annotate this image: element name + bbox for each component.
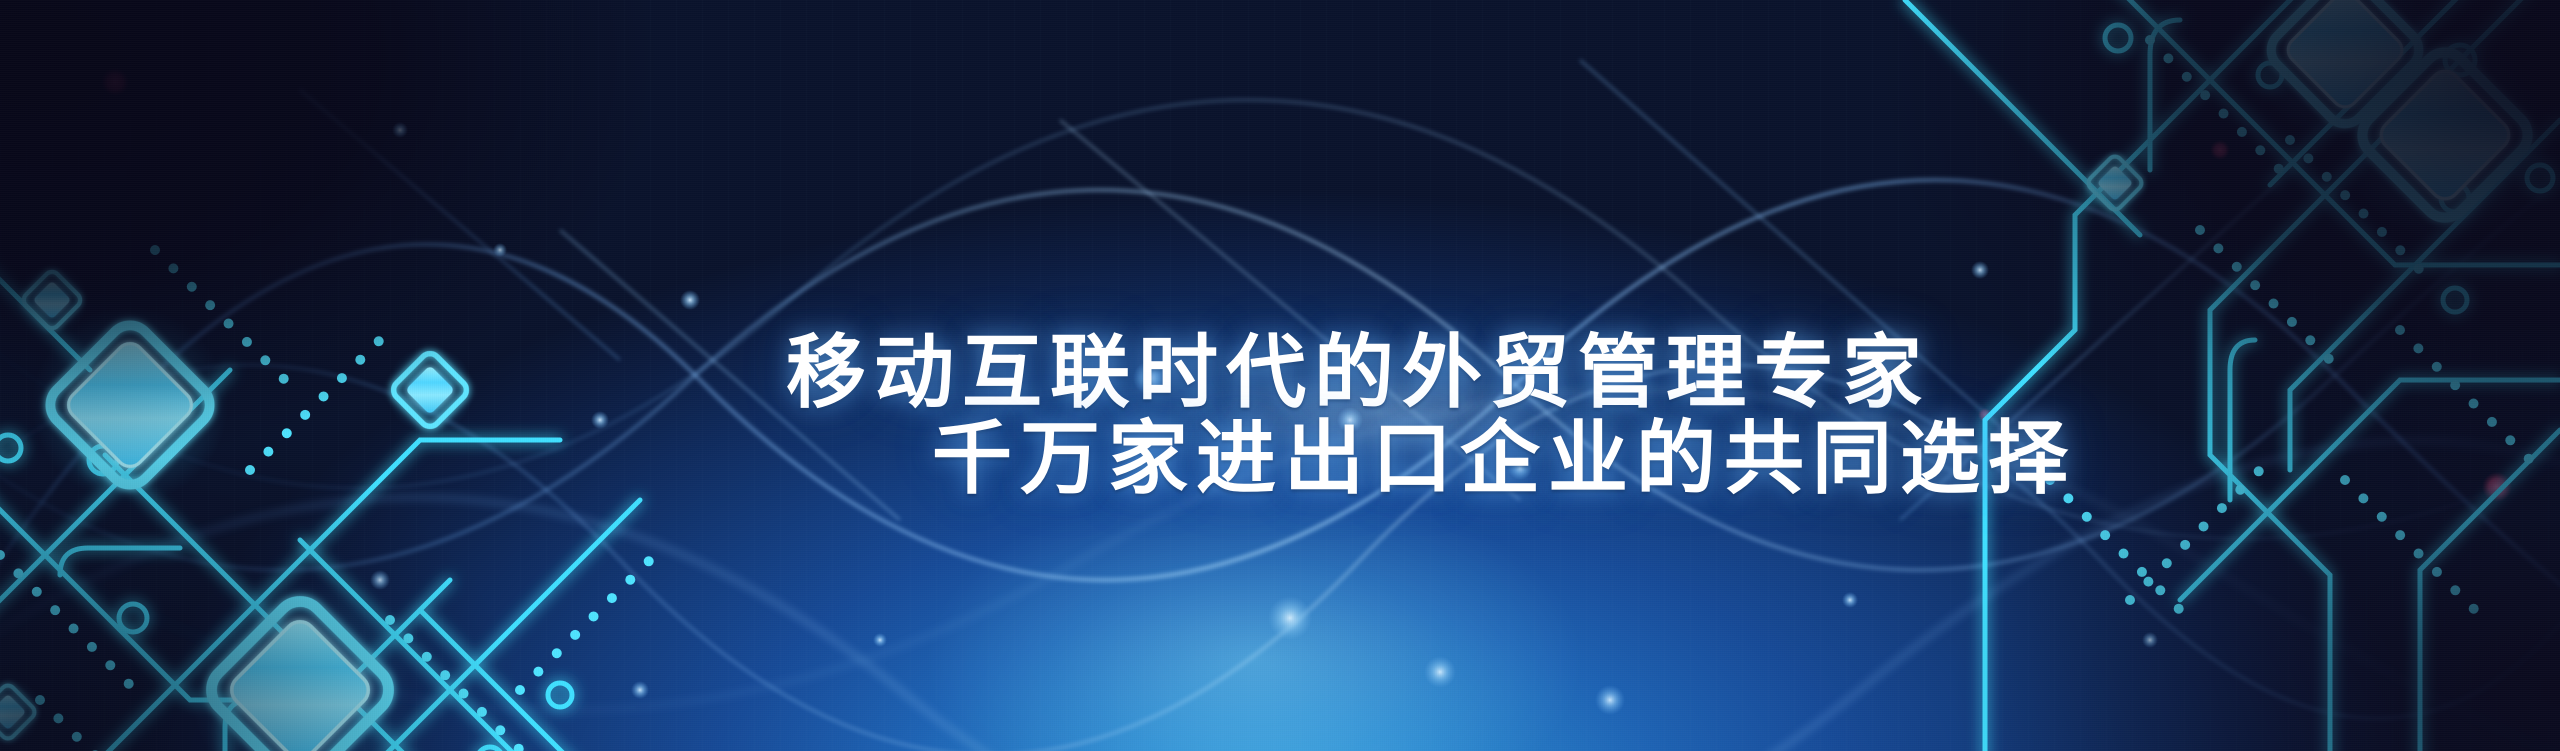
headline-line-2: 千万家进出口企业的共同选择 — [932, 419, 2076, 499]
headline-block: 移动互联时代的外贸管理专家 千万家进出口企业的共同选择 — [0, 0, 2560, 751]
headline-line-1: 移动互联时代的外贸管理专家 — [786, 333, 1930, 413]
promo-banner: 移动互联时代的外贸管理专家 千万家进出口企业的共同选择 — [0, 0, 2560, 751]
